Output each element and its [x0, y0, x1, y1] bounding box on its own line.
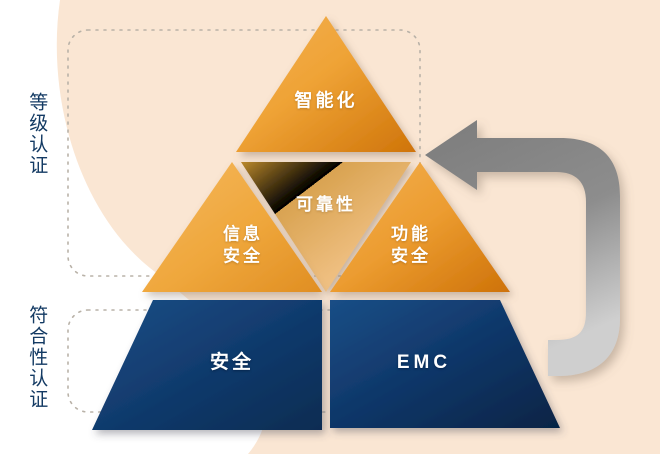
diagram-canvas: 智能化 信息 安全 可靠性 功能 安全 安全 EMC 等级认证 符合性认证	[0, 0, 660, 454]
grade-certification-label: 等级认证	[26, 92, 47, 176]
tile-intelligent-label: 智能化	[295, 89, 358, 112]
pyramid-layer	[0, 0, 660, 454]
tile-emc-label: EMC	[397, 351, 451, 375]
tile-safety[interactable]	[92, 300, 322, 430]
tile-funcsafe-label: 功能 安全	[391, 223, 431, 267]
tile-reliability-label: 可靠性	[296, 194, 356, 216]
compliance-certification-label: 符合性认证	[26, 305, 47, 410]
tile-safety-label: 安全	[210, 351, 254, 375]
tile-infosec-label: 信息 安全	[223, 223, 263, 267]
tile-intelligent[interactable]	[236, 16, 416, 152]
